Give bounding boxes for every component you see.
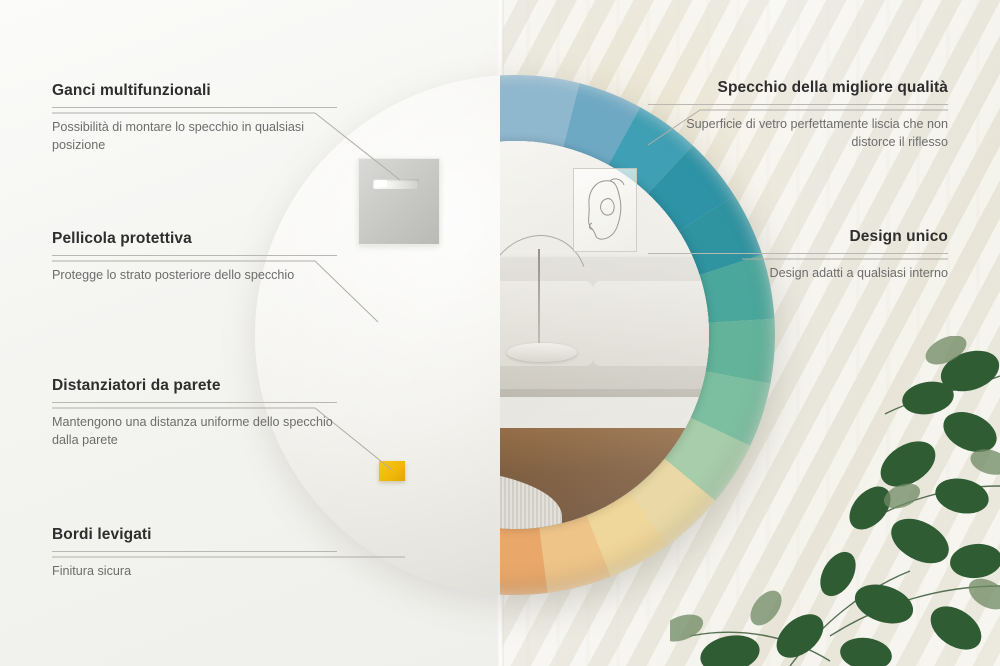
callout-distanziatori: Distanziatori da parete Mantengono una d… [52, 377, 337, 450]
callout-body: Design adatti a qualsiasi interno [648, 265, 948, 283]
hook-plate [358, 158, 440, 245]
round-mirror [500, 75, 775, 595]
callout-body: Possibilità di montare lo specchio in qu… [52, 119, 337, 155]
line-art-face-icon [580, 175, 630, 245]
callout-rule [52, 402, 337, 403]
scene-pendant-shade [507, 343, 577, 362]
scene-cushion [593, 281, 710, 367]
callout-specchio-qualita: Specchio della migliore qualità Superfic… [648, 79, 948, 152]
callout-body: Superficie di vetro perfettamente liscia… [648, 116, 948, 152]
callout-rule [648, 253, 948, 254]
callout-rule [52, 551, 337, 552]
callout-rule [52, 107, 337, 108]
callout-pellicola: Pellicola protettiva Protegge lo strato … [52, 230, 337, 285]
infographic-canvas: Ganci multifunzionali Possibilità di mon… [0, 0, 1000, 666]
scene-pendant-rod [538, 249, 540, 350]
callout-ganci: Ganci multifunzionali Possibilità di mon… [52, 82, 337, 155]
callout-title: Ganci multifunzionali [52, 82, 337, 100]
callout-title: Pellicola protettiva [52, 230, 337, 248]
wall-art-frame [573, 168, 637, 252]
callout-body: Finitura sicura [52, 563, 337, 581]
callout-title: Specchio della migliore qualità [648, 79, 948, 97]
callout-rule [648, 104, 948, 105]
hook-slot-icon [373, 179, 419, 189]
callout-body: Protegge lo strato posteriore dello spec… [52, 267, 337, 285]
wall-spacer [379, 461, 405, 481]
callout-title: Design unico [648, 228, 948, 246]
callout-bordi: Bordi levigati Finitura sicura [52, 526, 337, 581]
callout-title: Distanziatori da parete [52, 377, 337, 395]
callout-body: Mantengono una distanza uniforme dello s… [52, 414, 337, 450]
callout-design-unico: Design unico Design adatti a qualsiasi i… [648, 228, 948, 283]
callout-rule [52, 255, 337, 256]
callout-title: Bordi levigati [52, 526, 337, 544]
